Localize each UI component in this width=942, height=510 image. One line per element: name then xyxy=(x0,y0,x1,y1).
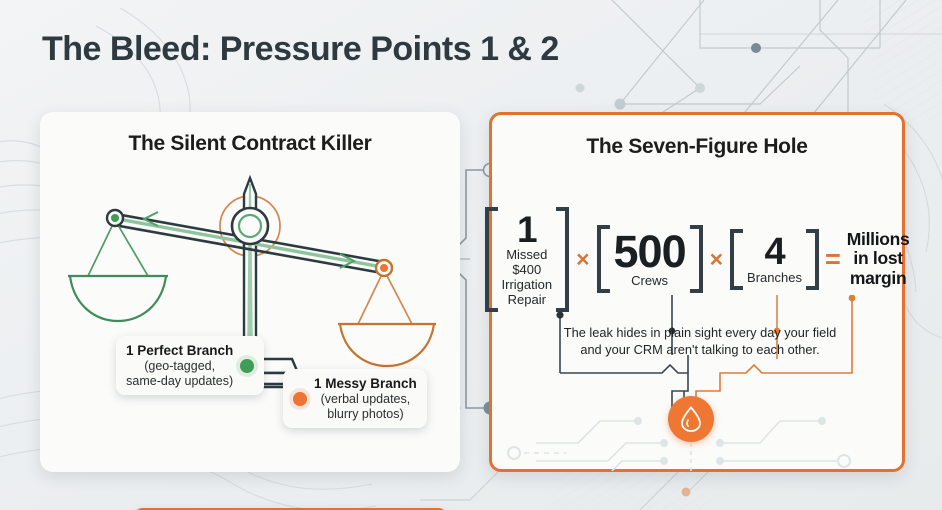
leak-caption: The leak hides in plain sight every day … xyxy=(550,325,850,358)
term-1-label-2: $400 xyxy=(502,263,553,278)
equals-operator: = xyxy=(819,246,847,273)
chip-messy-branch: 1 Messy Branch (verbal updates, blurry p… xyxy=(283,369,427,428)
chip-perfect-subline-1: (geo-tagged, xyxy=(126,359,233,374)
water-drop-badge xyxy=(668,396,714,442)
chip-messy-heading: 1 Messy Branch xyxy=(314,376,417,392)
right-card: The Seven-Figure Hole 1 Missed $400 Irri… xyxy=(489,112,905,472)
left-card-title: The Silent Contract Killer xyxy=(40,132,460,156)
chip-messy-subline-2: blurry photos) xyxy=(314,407,417,422)
result-line-2: in lost xyxy=(847,249,910,269)
water-drop-icon xyxy=(680,406,702,432)
bracket-left-icon xyxy=(597,225,610,293)
chip-messy-subline-1: (verbal updates, xyxy=(314,392,417,407)
term-3-label-1: Branches xyxy=(747,271,802,286)
chip-perfect-branch: 1 Perfect Branch (geo-tagged, same-day u… xyxy=(116,336,264,395)
term-3-value: 4 xyxy=(747,234,802,271)
chip-perfect-heading: 1 Perfect Branch xyxy=(126,343,233,359)
leak-caption-line-2: and your CRM aren't talking to each othe… xyxy=(550,342,850,359)
term-1-label-1: Missed xyxy=(502,248,553,263)
bracket-right-icon xyxy=(806,229,819,290)
left-card: The Silent Contract Killer xyxy=(40,112,460,472)
equation-result: Millions in lost margin xyxy=(847,230,910,289)
chip-perfect-subline-2: same-day updates) xyxy=(126,374,233,389)
orange-status-dot-icon xyxy=(293,392,307,406)
result-line-3: margin xyxy=(847,269,910,289)
equation-term-3: 4 Branches xyxy=(730,229,819,290)
term-1-label-3: Irrigation xyxy=(502,278,553,293)
bracket-right-icon xyxy=(690,225,703,293)
green-status-dot-icon xyxy=(240,359,254,373)
equation-connector-wiring xyxy=(492,295,902,471)
term-1-value: 1 xyxy=(502,212,553,248)
page-title: The Bleed: Pressure Points 1 & 2 xyxy=(42,30,559,69)
result-line-1: Millions xyxy=(847,230,910,250)
term-2-value: 500 xyxy=(614,230,686,274)
leak-caption-line-1: The leak hides in plain sight every day … xyxy=(550,325,850,342)
equation-term-2: 500 Crews xyxy=(597,225,703,293)
multiply-operator-2: × xyxy=(703,248,730,271)
right-card-title: The Seven-Figure Hole xyxy=(492,135,902,159)
bracket-left-icon xyxy=(730,229,743,290)
multiply-operator-1: × xyxy=(569,248,596,271)
